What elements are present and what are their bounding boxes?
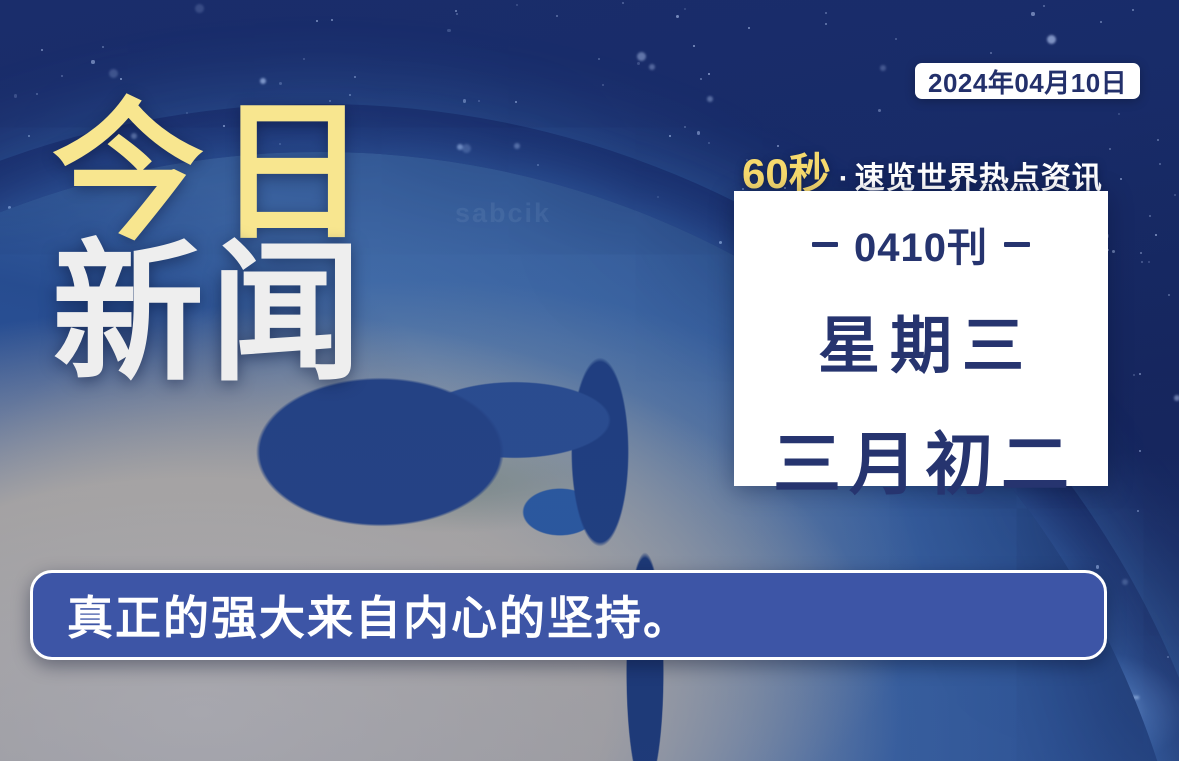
star [598, 58, 600, 60]
star [195, 4, 204, 13]
star [1174, 395, 1179, 401]
news-poster: sabcik 今日 新闻 2024年04月10日 60秒 · 速览世界热点资讯 … [0, 0, 1179, 761]
brand-title-line1: 今日 [52, 96, 380, 251]
star [463, 99, 466, 102]
star [1096, 565, 1099, 568]
star [1120, 178, 1122, 180]
star [91, 60, 94, 63]
star [260, 78, 266, 84]
star [895, 38, 897, 40]
star [1047, 35, 1056, 44]
watermark-text: sabcik [455, 198, 551, 229]
star [708, 142, 710, 144]
star [649, 64, 655, 70]
star [537, 164, 539, 166]
star [1122, 579, 1128, 585]
star [693, 45, 695, 47]
issue-line: 0410刊 [812, 215, 1030, 273]
star [697, 131, 700, 134]
issue-dash-left [812, 242, 838, 247]
date-badge-label: 2024年04月10日 [928, 63, 1127, 100]
star [41, 49, 43, 51]
weekday-label: 星期三 [808, 295, 1034, 385]
lunar-date-label: 三月初二 [765, 409, 1077, 508]
star [1031, 12, 1034, 15]
issue-dash-right [1004, 242, 1030, 247]
star [14, 94, 17, 97]
star [602, 84, 604, 86]
star [825, 23, 827, 25]
brand-title: 今日 新闻 [52, 96, 380, 392]
star [447, 29, 450, 32]
star [1132, 9, 1134, 11]
date-badge: 2024年04月10日 [915, 63, 1140, 99]
brand-title-line2: 新闻 [52, 237, 380, 392]
issue-number: 0410刊 [854, 215, 988, 273]
star [1118, 113, 1120, 115]
star [462, 144, 471, 153]
star [109, 69, 118, 78]
issue-info-card: 0410刊 星期三 三月初二 [734, 191, 1108, 486]
star [637, 52, 646, 61]
star [102, 46, 104, 48]
star [279, 82, 282, 85]
quote-text: 真正的强大来自内心的坚持。 [67, 582, 691, 648]
star [1137, 510, 1139, 512]
star [669, 135, 671, 137]
quote-banner: 真正的强大来自内心的坚持。 [30, 570, 1107, 660]
